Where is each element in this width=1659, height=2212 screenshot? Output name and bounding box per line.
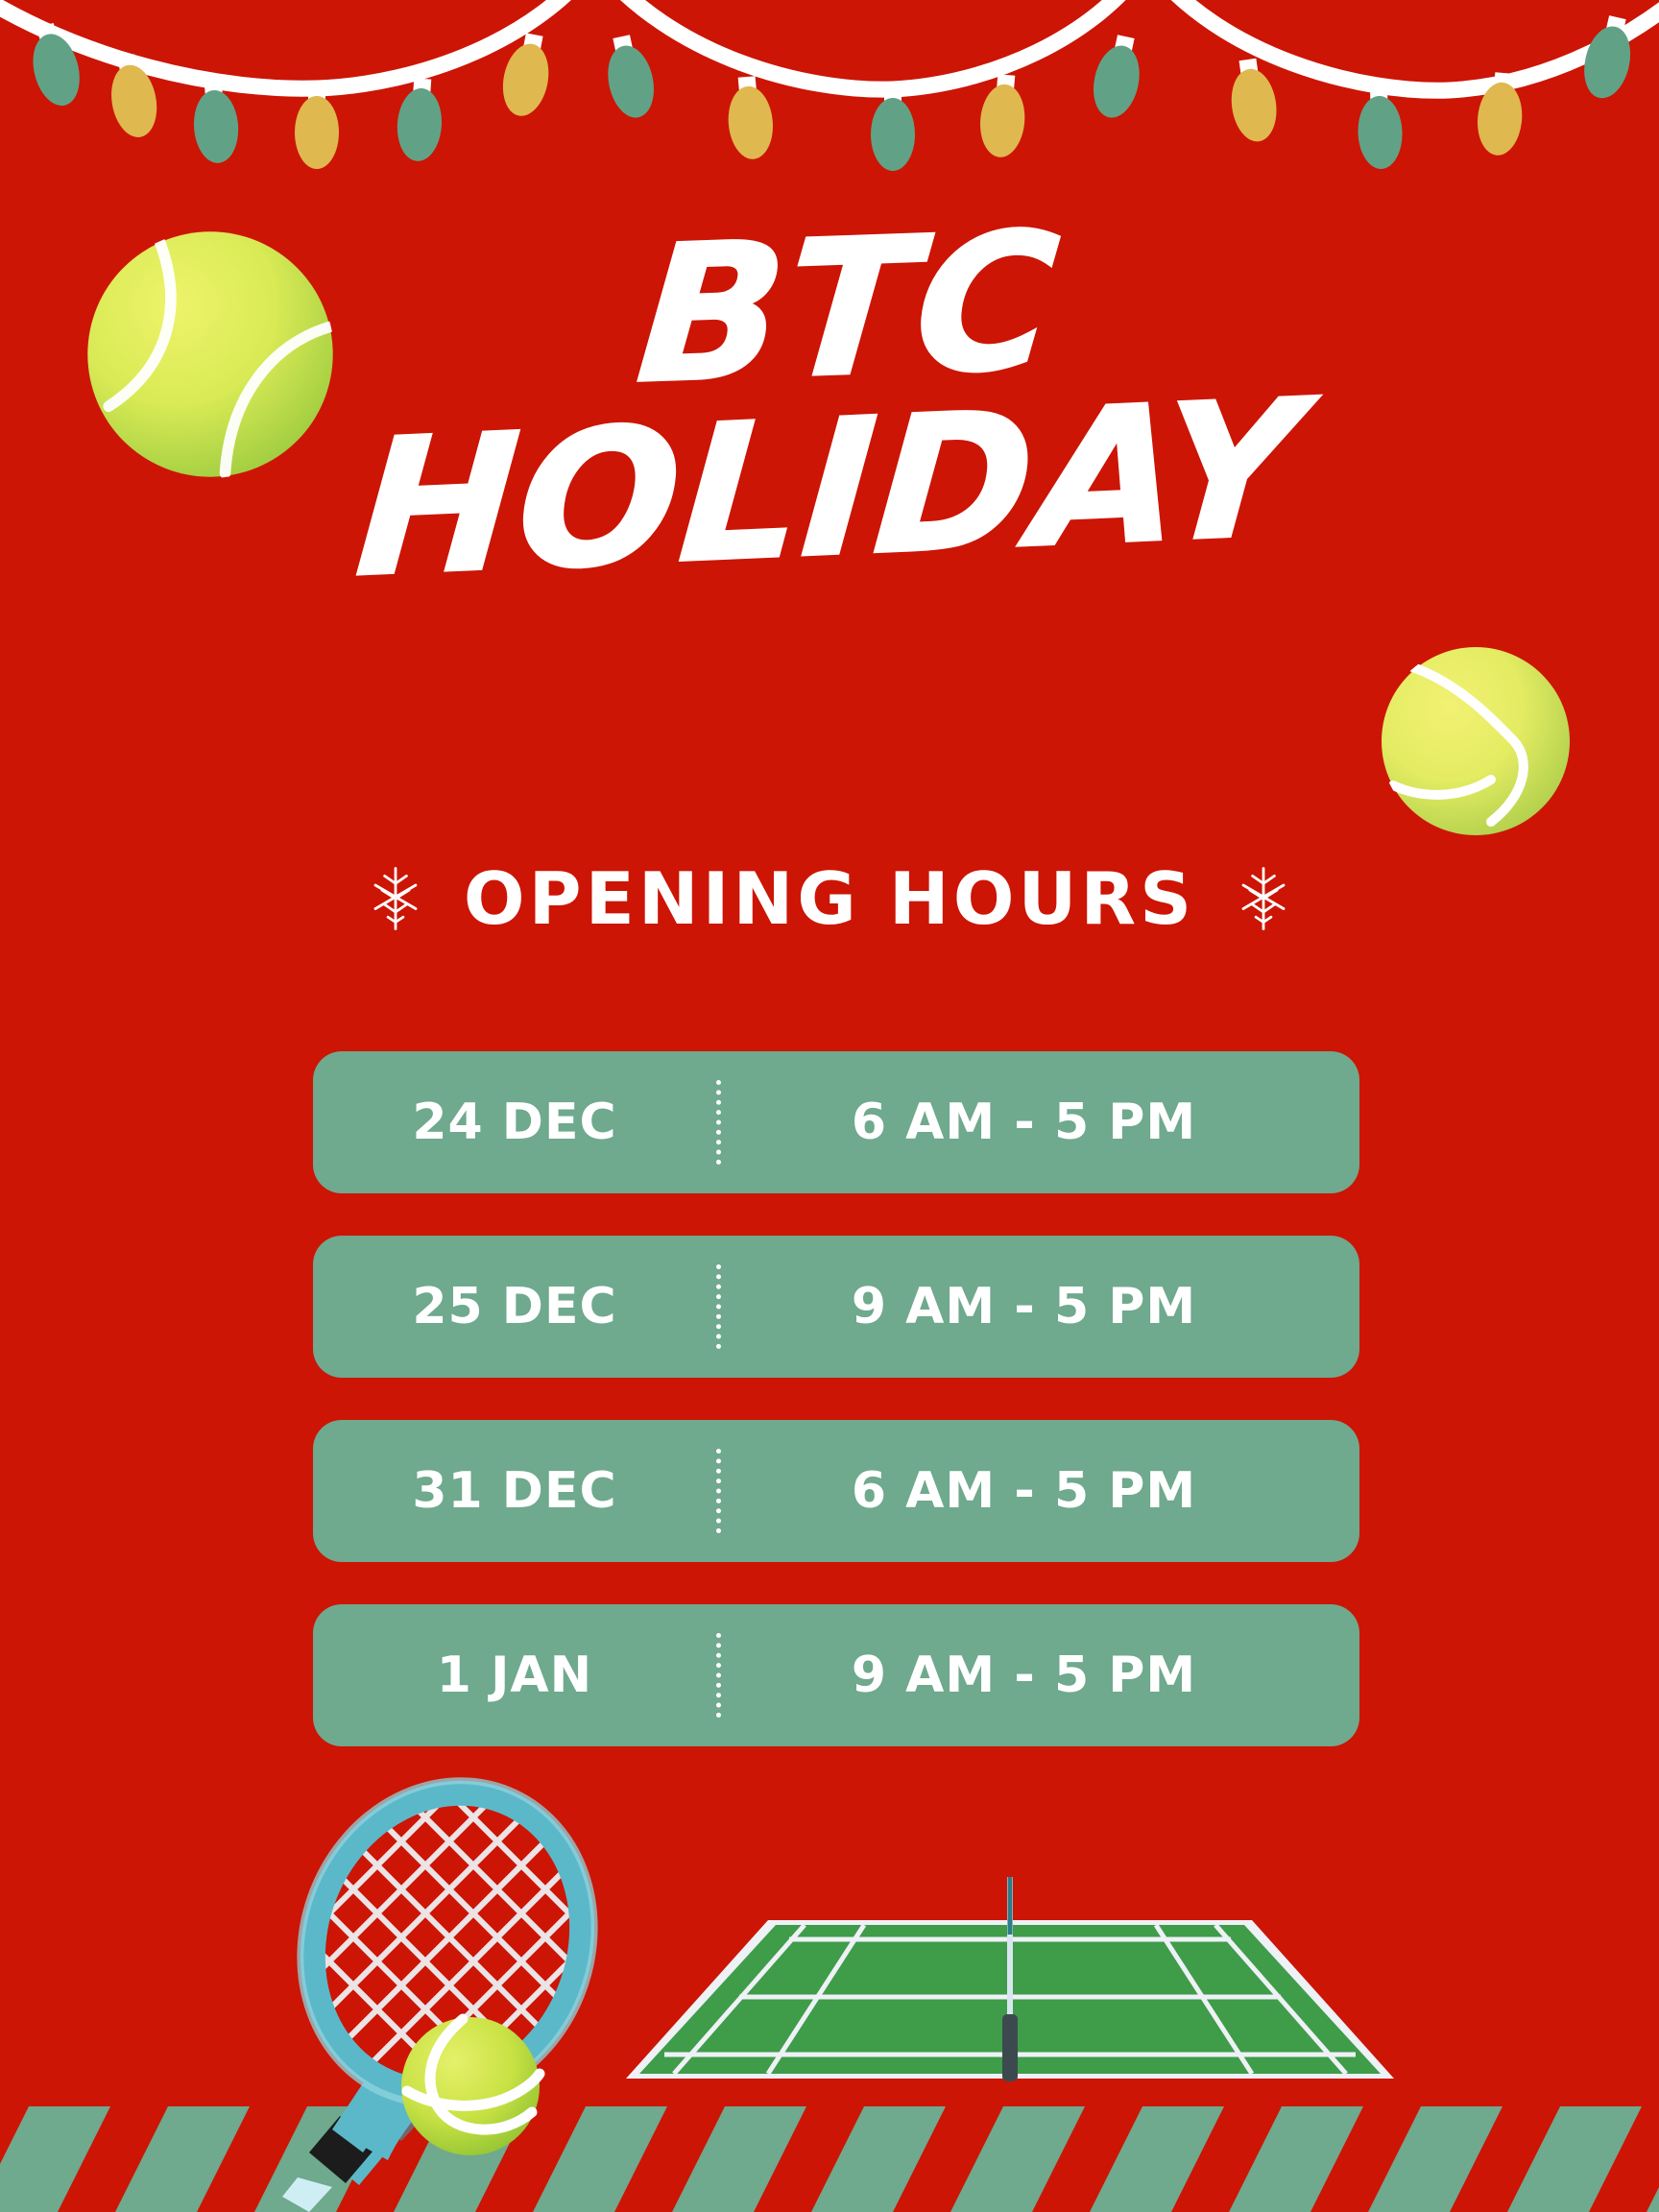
snowflake-icon-left bbox=[370, 865, 421, 932]
snowflake-icon-right bbox=[1238, 865, 1289, 932]
tennis-racket-icon bbox=[209, 1774, 651, 2212]
schedule-hours-1: 9 AM - 5 PM bbox=[721, 1282, 1359, 1332]
schedule-date-1: 25 DEC bbox=[313, 1282, 716, 1332]
schedule-date-3: 1 JAN bbox=[313, 1650, 716, 1700]
subtitle-row: OPENING HOURS bbox=[0, 845, 1659, 952]
schedule-date-0: 24 DEC bbox=[313, 1097, 716, 1147]
schedule-row-0: 24 DEC 6 AM - 5 PM bbox=[313, 1051, 1359, 1193]
subtitle-text: OPENING HOURS bbox=[464, 863, 1195, 935]
tennis-court-icon bbox=[626, 1877, 1394, 2155]
opening-hours-schedule: 24 DEC 6 AM - 5 PM 25 DEC 9 AM - 5 PM 31… bbox=[313, 1051, 1359, 1746]
page-title: BTC HOLIDAY bbox=[0, 223, 1659, 577]
schedule-date-2: 31 DEC bbox=[313, 1466, 716, 1516]
schedule-row-2: 31 DEC 6 AM - 5 PM bbox=[313, 1420, 1359, 1562]
string-lights bbox=[0, 0, 1659, 178]
holiday-opening-hours-poster: BTC HOLIDAY OPENING HOURS bbox=[0, 0, 1659, 2212]
schedule-hours-0: 6 AM - 5 PM bbox=[721, 1097, 1359, 1147]
schedule-row-1: 25 DEC 9 AM - 5 PM bbox=[313, 1236, 1359, 1378]
schedule-row-3: 1 JAN 9 AM - 5 PM bbox=[313, 1604, 1359, 1746]
schedule-hours-2: 6 AM - 5 PM bbox=[721, 1466, 1359, 1516]
tennis-ball-right-icon bbox=[1380, 645, 1572, 837]
schedule-hours-3: 9 AM - 5 PM bbox=[721, 1650, 1359, 1700]
